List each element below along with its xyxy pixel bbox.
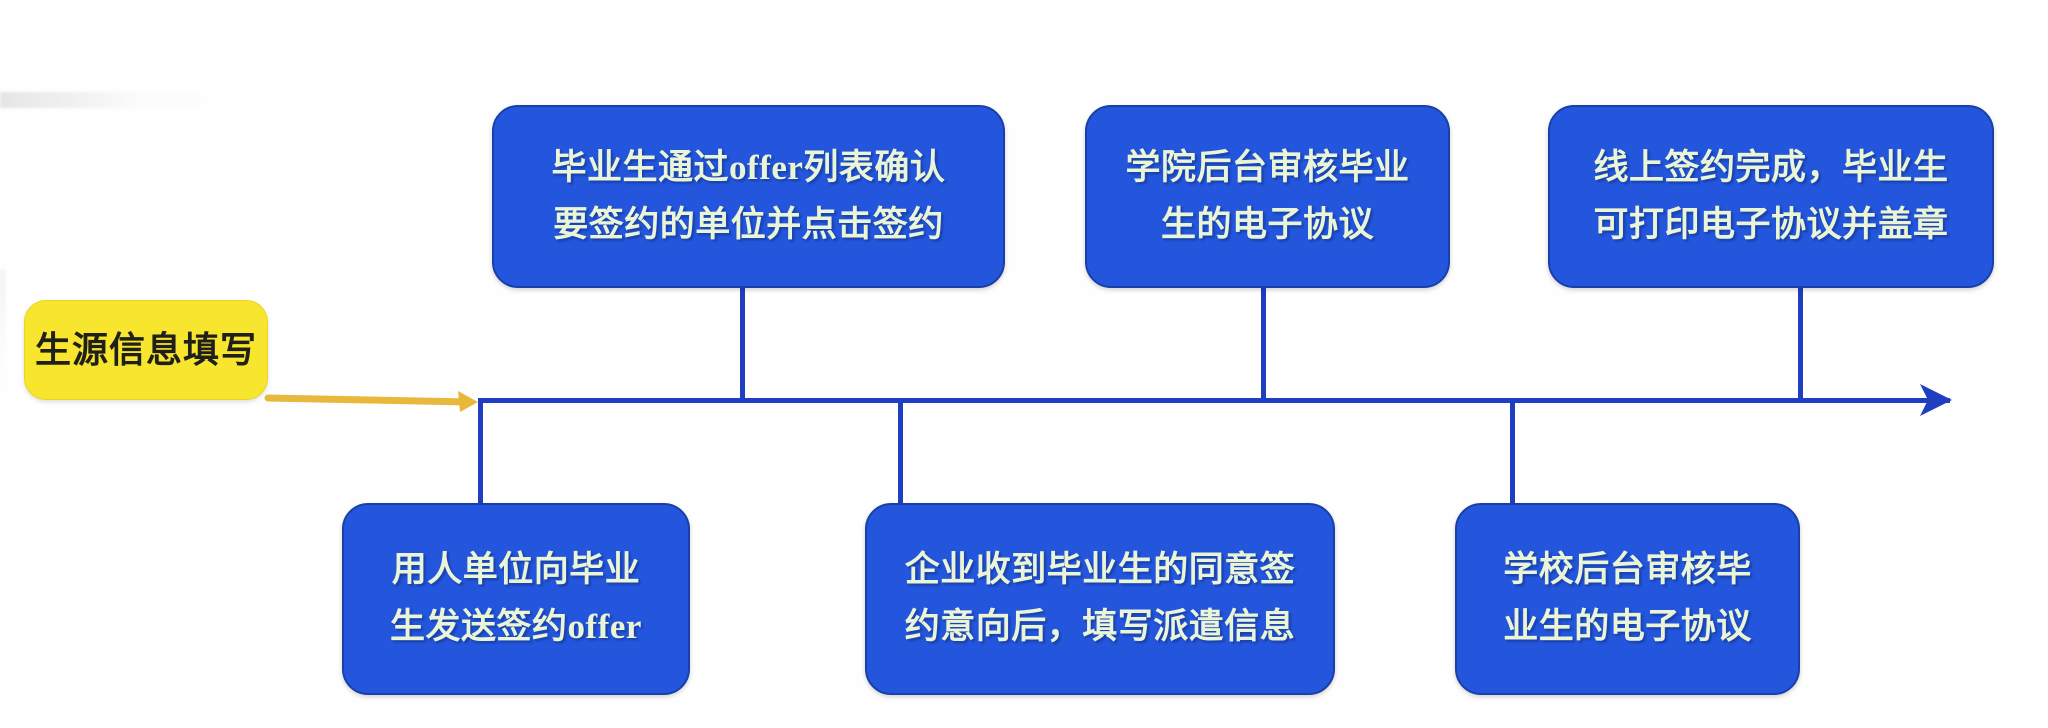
flowchart-canvas: 生源信息填写 毕业生通过offer列表确认 要签约的单位并点击签约 学院后台审核… (0, 0, 2048, 728)
start-node-biographical-info[interactable]: 生源信息填写 (24, 300, 268, 400)
connector-to-step4 (1261, 288, 1266, 402)
scan-smudge-artifact (0, 92, 200, 108)
connector-to-step1 (478, 398, 483, 503)
process-node-step5-line-2: 业生的电子协议 (1503, 599, 1752, 656)
process-node-step3-line-1: 企业收到毕业生的同意签 (905, 542, 1296, 599)
connector-to-step3 (898, 398, 903, 503)
start-node-line-1: 生源信息填写 (35, 323, 257, 377)
process-node-step3[interactable]: 企业收到毕业生的同意签 约意向后，填写派遣信息 (865, 503, 1335, 695)
process-node-step2[interactable]: 毕业生通过offer列表确认 要签约的单位并点击签约 (492, 105, 1005, 288)
connector-to-step2 (740, 288, 745, 402)
process-node-step5[interactable]: 学校后台审核毕 业生的电子协议 (1455, 503, 1800, 695)
main-timeline-spine (478, 398, 1950, 403)
process-node-step2-line-2: 要签约的单位并点击签约 (553, 197, 944, 254)
connector-to-step5 (1510, 398, 1515, 503)
scan-edge-artifact (0, 270, 6, 390)
process-node-step1-line-1: 用人单位向毕业 (392, 542, 641, 599)
process-node-step1[interactable]: 用人单位向毕业 生发送签约offer (342, 503, 690, 695)
process-node-step2-line-1: 毕业生通过offer列表确认 (552, 140, 946, 197)
start-arrow-icon (268, 391, 478, 412)
process-node-step3-line-2: 约意向后，填写派遣信息 (905, 599, 1296, 656)
connector-to-step6 (1798, 288, 1803, 402)
process-node-step6-line-2: 可打印电子协议并盖章 (1593, 197, 1948, 254)
process-node-step4[interactable]: 学院后台审核毕业 生的电子协议 (1085, 105, 1450, 288)
process-node-step4-line-2: 生的电子协议 (1161, 197, 1374, 254)
process-node-step6[interactable]: 线上签约完成，毕业生 可打印电子协议并盖章 (1548, 105, 1994, 288)
process-node-step4-line-1: 学院后台审核毕业 (1125, 140, 1409, 197)
process-node-step1-line-2: 生发送签约offer (390, 599, 642, 656)
process-node-step6-line-1: 线上签约完成，毕业生 (1593, 140, 1948, 197)
process-node-step5-line-1: 学校后台审核毕 (1503, 542, 1752, 599)
